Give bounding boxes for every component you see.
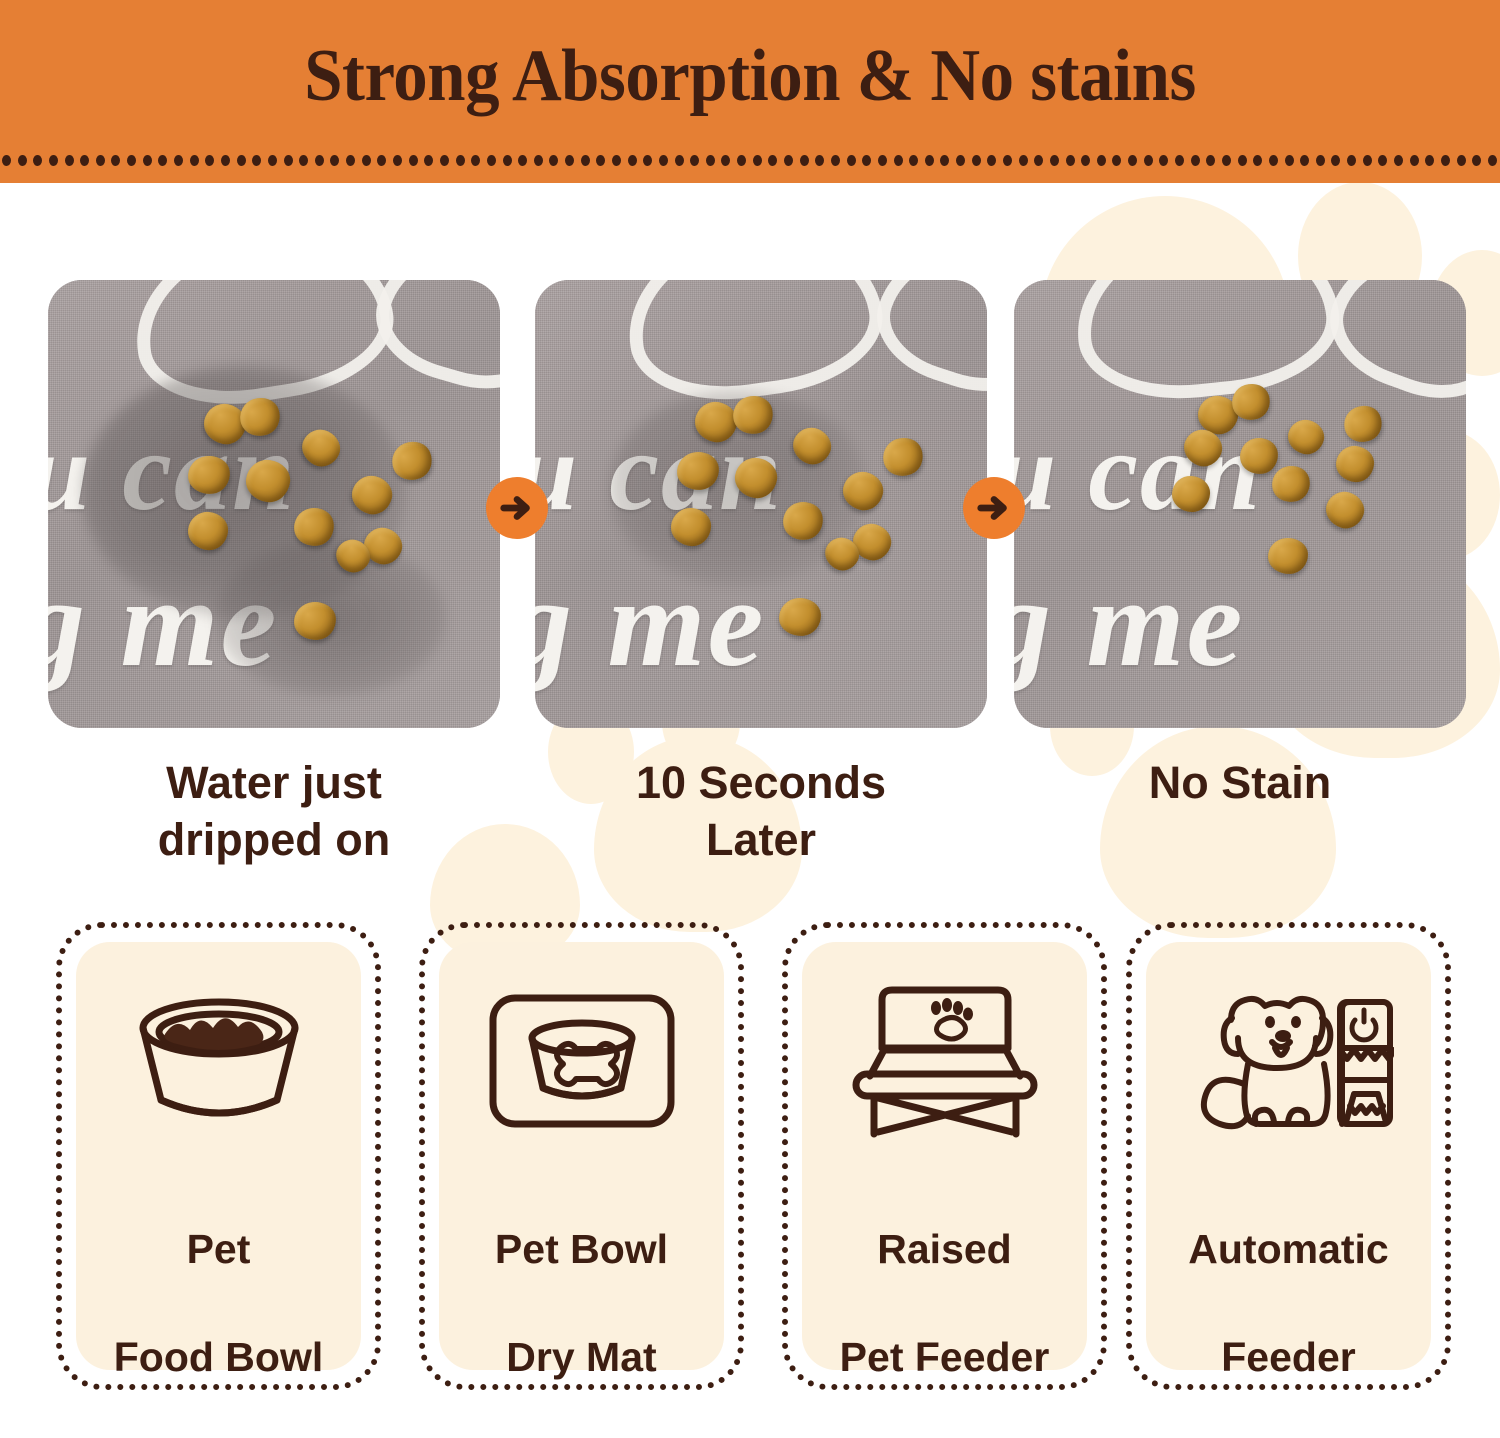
- feature-card-automatic-feeder[interactable]: Automatic Feeder: [1126, 922, 1451, 1390]
- header-dot: [65, 155, 74, 166]
- header-dot: [1394, 155, 1403, 166]
- feature-card-raised-pet-feeder[interactable]: Raised Pet Feeder: [782, 922, 1107, 1390]
- header-dot: [596, 155, 605, 166]
- header-dot: [174, 155, 183, 166]
- header-dot: [1285, 155, 1294, 166]
- header-dot: [33, 155, 42, 166]
- comparison-photo-2: u can g me: [535, 280, 987, 728]
- pet-bowl-dry-mat-icon: [477, 976, 687, 1146]
- caption-line: No Stain: [1014, 754, 1466, 811]
- header-dot: [1066, 155, 1075, 166]
- header-dot: [127, 155, 136, 166]
- header-dot: [565, 155, 574, 166]
- header-dot: [143, 155, 152, 166]
- feature-card-label: Pet Bowl Dry Mat: [495, 1168, 668, 1438]
- header-banner: Strong Absorption & No stains: [0, 0, 1500, 183]
- header-dot: [299, 155, 308, 166]
- header-dot: [831, 155, 840, 166]
- caption-line: Later: [535, 811, 987, 868]
- header-dot: [534, 155, 543, 166]
- header-dot: [1097, 155, 1106, 166]
- header-dot: [1128, 155, 1137, 166]
- feature-card-pet-bowl-dry-mat[interactable]: Pet Bowl Dry Mat: [419, 922, 744, 1390]
- header-dot: [18, 155, 27, 166]
- header-dot: [1316, 155, 1325, 166]
- header-dot: [675, 155, 684, 166]
- header-dot: [847, 155, 856, 166]
- label-line: Pet: [114, 1222, 324, 1276]
- header-dot: [1331, 155, 1340, 166]
- header-dot: [1159, 155, 1168, 166]
- header-dot: [1472, 155, 1481, 166]
- header-dot: [1300, 155, 1309, 166]
- header-dot: [1222, 155, 1231, 166]
- header-dot: [940, 155, 949, 166]
- header-dot: [1253, 155, 1262, 166]
- header-dot: [440, 155, 449, 166]
- label-line: Pet Feeder: [840, 1330, 1050, 1384]
- header-dot: [1003, 155, 1012, 166]
- header-dot: [612, 155, 621, 166]
- comparison-photo-1: u can g me: [48, 280, 500, 728]
- header-dot: [503, 155, 512, 166]
- header-dot: [409, 155, 418, 166]
- header-dot: [49, 155, 58, 166]
- header-dot: [362, 155, 371, 166]
- header-dot: [549, 155, 558, 166]
- header-dot: [1425, 155, 1434, 166]
- pet-food-bowl-icon: [114, 976, 324, 1146]
- header-dot: [878, 155, 887, 166]
- header-dot: [1347, 155, 1356, 166]
- label-line: Food Bowl: [114, 1330, 324, 1384]
- header-dot: [518, 155, 527, 166]
- arrow-right-icon: [486, 477, 548, 539]
- label-line: Raised: [840, 1222, 1050, 1276]
- header-dot: [393, 155, 402, 166]
- header-dot: [1269, 155, 1278, 166]
- header-dot: [1206, 155, 1215, 166]
- header-dot: [471, 155, 480, 166]
- compatible-products-row: Pet Food Bowl: [0, 922, 1500, 1393]
- header-dot: [158, 155, 167, 166]
- header-dot: [268, 155, 277, 166]
- header-dot: [862, 155, 871, 166]
- header-dot: [737, 155, 746, 166]
- mat-script-text: g me: [1014, 552, 1244, 696]
- header-dot: [581, 155, 590, 166]
- raised-pet-feeder-icon: [840, 976, 1050, 1146]
- header-dot: [487, 155, 496, 166]
- header-dot: [424, 155, 433, 166]
- header-dot: [659, 155, 668, 166]
- feature-card-pet-food-bowl[interactable]: Pet Food Bowl: [56, 922, 381, 1390]
- label-line: Automatic: [1188, 1222, 1388, 1276]
- header-dot: [643, 155, 652, 166]
- caption-line: 10 Seconds: [535, 754, 987, 811]
- header-dot: [768, 155, 777, 166]
- label-line: Feeder: [1188, 1330, 1388, 1384]
- header-dot: [690, 155, 699, 166]
- header-dot: [315, 155, 324, 166]
- header-dot: [753, 155, 762, 166]
- header-dot: [987, 155, 996, 166]
- header-dot: [784, 155, 793, 166]
- header-dot: [284, 155, 293, 166]
- header-dot: [706, 155, 715, 166]
- header-dot: [800, 155, 809, 166]
- header-dot: [377, 155, 386, 166]
- header-dot: [1363, 155, 1372, 166]
- header-dot: [1019, 155, 1028, 166]
- header-dot: [1191, 155, 1200, 166]
- header-dot: [721, 155, 730, 166]
- header-dot: [1378, 155, 1387, 166]
- header-dot: [96, 155, 105, 166]
- header-dot: [80, 155, 89, 166]
- header-dot: [628, 155, 637, 166]
- comparison-caption-2: 10 Seconds Later: [535, 754, 987, 868]
- label-line: Dry Mat: [495, 1330, 668, 1384]
- header-dot: [205, 155, 214, 166]
- caption-line: dripped on: [48, 811, 500, 868]
- header-dot: [925, 155, 934, 166]
- label-line: Pet Bowl: [495, 1222, 668, 1276]
- header-dot: [346, 155, 355, 166]
- header-dot: [111, 155, 120, 166]
- header-dot: [972, 155, 981, 166]
- page-title: Strong Absorption & No stains: [53, 34, 1448, 118]
- header-dot: [1457, 155, 1466, 166]
- comparison-caption-3: No Stain: [1014, 754, 1466, 811]
- header-dot: [237, 155, 246, 166]
- header-dot: [1034, 155, 1043, 166]
- mat-script-text: [48, 280, 125, 410]
- header-dot: [1112, 155, 1121, 166]
- header-dot: [1488, 155, 1497, 166]
- feature-card-label: Automatic Feeder: [1188, 1168, 1388, 1438]
- caption-line: Water just: [48, 754, 500, 811]
- header-dot: [1050, 155, 1059, 166]
- header-dot: [815, 155, 824, 166]
- header-dot: [1441, 155, 1450, 166]
- header-dot: [1175, 155, 1184, 166]
- header-dot: [330, 155, 339, 166]
- header-dotted-divider: [0, 155, 1500, 167]
- header-dot: [221, 155, 230, 166]
- header-dot: [956, 155, 965, 166]
- header-dot: [1081, 155, 1090, 166]
- header-dot: [1410, 155, 1419, 166]
- header-dot: [1144, 155, 1153, 166]
- comparison-caption-1: Water just dripped on: [48, 754, 500, 868]
- automatic-feeder-icon: [1184, 976, 1394, 1146]
- absorption-comparison-strip: u can g me u can g me: [0, 183, 1500, 901]
- comparison-photo-3: u can g me: [1014, 280, 1466, 728]
- feature-card-label: Pet Food Bowl: [114, 1168, 324, 1438]
- header-dot: [2, 155, 11, 166]
- header-dot: [909, 155, 918, 166]
- header-dot: [190, 155, 199, 166]
- header-dot: [1238, 155, 1247, 166]
- arrow-right-icon: [963, 477, 1025, 539]
- header-dot: [456, 155, 465, 166]
- feature-card-label: Raised Pet Feeder: [840, 1168, 1050, 1438]
- header-dot: [252, 155, 261, 166]
- header-dot: [894, 155, 903, 166]
